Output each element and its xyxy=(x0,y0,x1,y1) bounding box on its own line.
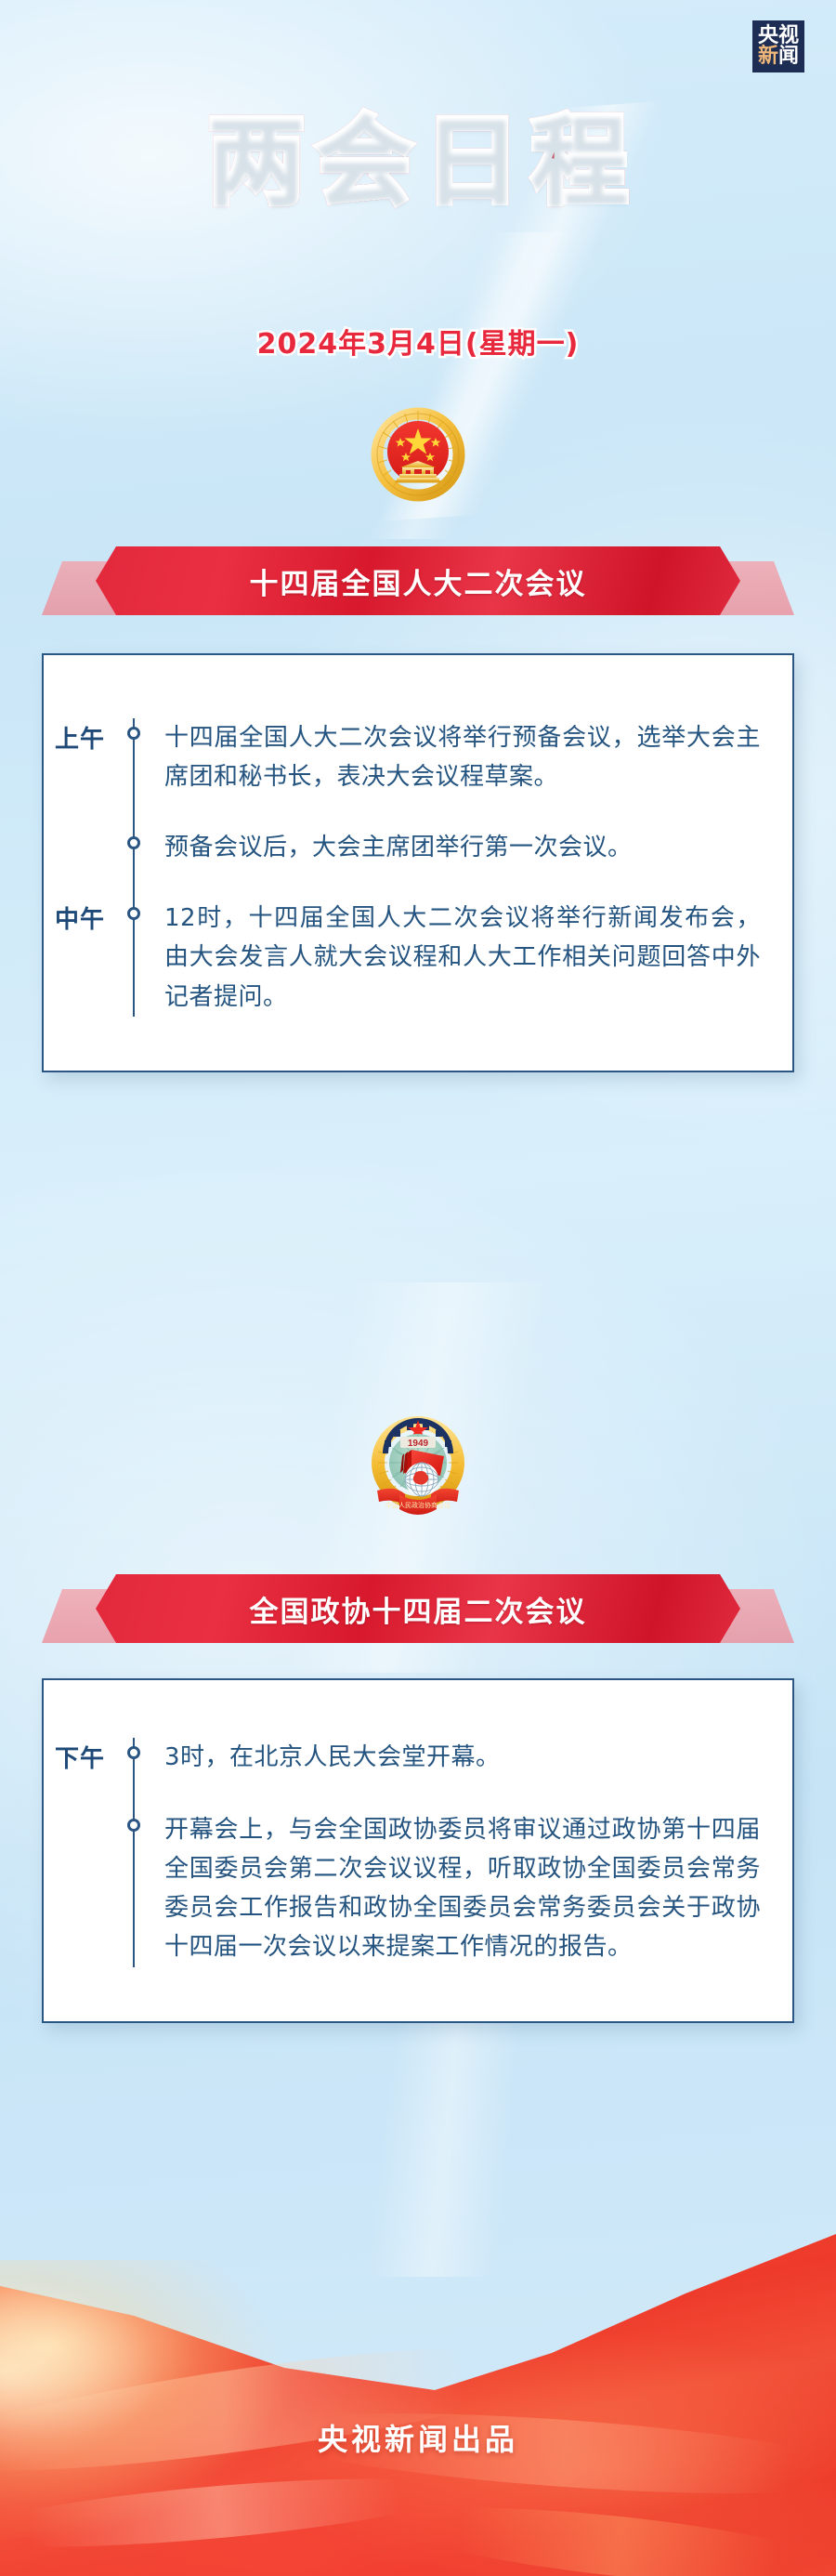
red-silk-footer xyxy=(0,2204,836,2576)
schedule-row-text: 12时，十四届全国人大二次会议将举行新闻发布会，由大会发言人就大会议程和人大工作… xyxy=(164,899,792,1016)
schedule-row-label: 下午 xyxy=(44,1738,133,1774)
national-emblem-wrap xyxy=(0,403,836,508)
timeline-cppcc: 下午 3时，在北京人民大会堂开幕。 开幕会上，与会全国政协委员将审议通过政协第十… xyxy=(44,1738,792,1967)
cctv-logo-line1: 央视 xyxy=(758,26,799,46)
schedule-row: 开幕会上，与会全国政协委员将审议通过政协第十四届全国委员会第二次会议议程，听取政… xyxy=(44,1810,792,1966)
section-banner-cppcc: 全国政协十四届二次会议 xyxy=(42,1589,794,1643)
cctv-logo-line2: 新闻 xyxy=(758,46,799,67)
timeline-dot-icon xyxy=(127,1819,140,1832)
section-banner-npc: 十四届全国人大二次会议 xyxy=(42,561,794,615)
cppcc-emblem-icon: 1949 中国人民政治协商会议 xyxy=(359,1405,477,1531)
banner-core: 全国政协十四届二次会议 xyxy=(96,1574,740,1643)
banner-core: 十四届全国人大二次会议 xyxy=(96,546,740,615)
schedule-row-label: 中午 xyxy=(44,899,133,935)
schedule-row-text: 十四届全国人大二次会议将举行预备会议，选举大会主席团和秘书长，表决大会议程草案。 xyxy=(164,718,792,796)
footer-credit: 央视新闻出品 xyxy=(0,2416,836,2459)
schedule-card-cppcc: 下午 3时，在北京人民大会堂开幕。 开幕会上，与会全国政协委员将审议通过政协第十… xyxy=(42,1678,794,2023)
schedule-row: 下午 3时，在北京人民大会堂开幕。 xyxy=(44,1738,792,1777)
cctv-news-logo: 央视 新闻 xyxy=(752,20,804,72)
schedule-row-text: 预备会议后，大会主席团举行第一次会议。 xyxy=(164,828,664,867)
schedule-row: 中午 12时，十四届全国人大二次会议将举行新闻发布会，由大会发言人就大会议程和人… xyxy=(44,899,792,1016)
schedule-row-text: 3时，在北京人民大会堂开幕。 xyxy=(164,1738,532,1777)
schedule-row-text: 开幕会上，与会全国政协委员将审议通过政协第十四届全国委员会第二次会议议程，听取政… xyxy=(164,1810,792,1966)
cctv-logo-wen: 闻 xyxy=(778,45,799,68)
schedule-row: 预备会议后，大会主席团举行第一次会议。 xyxy=(44,828,792,867)
page-title: 两会日程 xyxy=(0,82,836,222)
timeline-npc: 上午 十四届全国人大二次会议将举行预备会议，选举大会主席团和秘书长，表决大会议程… xyxy=(44,718,792,1017)
banner-title: 十四届全国人大二次会议 xyxy=(250,560,587,602)
page-title-text: 两会日程 xyxy=(208,104,639,217)
national-emblem-of-china-icon xyxy=(368,403,468,504)
schedule-row-label xyxy=(44,828,133,830)
schedule-row: 上午 十四届全国人大二次会议将举行预备会议，选举大会主席团和秘书长，表决大会议程… xyxy=(44,718,792,796)
schedule-row-label xyxy=(44,1810,133,1812)
cppcc-emblem-wrap: 1949 中国人民政治协商会议 xyxy=(0,1405,836,1536)
timeline-dot-icon xyxy=(127,907,140,920)
schedule-row-label: 上午 xyxy=(44,718,133,755)
cppcc-emblem-year: 1949 xyxy=(408,1439,429,1449)
schedule-card-npc: 上午 十四届全国人大二次会议将举行预备会议，选举大会主席团和秘书长，表决大会议程… xyxy=(42,653,794,1072)
timeline-dot-icon xyxy=(127,727,140,740)
silk-sheet xyxy=(0,2204,836,2576)
poster-root: 央视 新闻 两会日程 2024年3月4日(星期一) xyxy=(0,0,836,2576)
banner-title: 全国政协十四届二次会议 xyxy=(250,1588,587,1630)
timeline-dot-icon xyxy=(127,836,140,849)
timeline-dot-icon xyxy=(127,1746,140,1759)
cppcc-emblem-ribbon-text: 中国人民政治协商会议 xyxy=(385,1501,451,1509)
cctv-logo-xin: 新 xyxy=(758,45,778,68)
page-date: 2024年3月4日(星期一) xyxy=(0,321,836,361)
